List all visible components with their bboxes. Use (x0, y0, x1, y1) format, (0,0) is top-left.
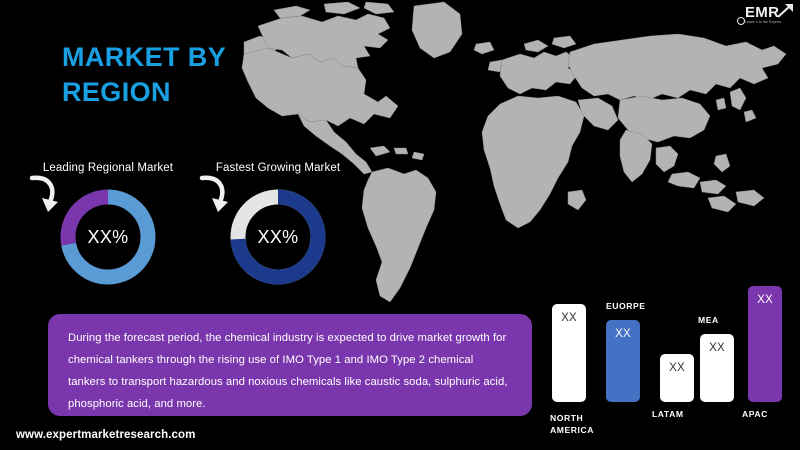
logo-name: EMR (745, 4, 779, 21)
callout-text-box: During the forecast period, the chemical… (48, 314, 532, 416)
bar-label-euorpe: EUORPE (606, 300, 666, 312)
bar-label-latam: LATAM (652, 408, 710, 420)
infographic-slide: MARKET BY REGION EMR Leave it to the Exp… (0, 0, 800, 450)
donut-caption: Fastest Growing Market (216, 162, 340, 174)
donut-caption: Leading Regional Market (43, 162, 173, 174)
growth-arrow-icon (776, 3, 794, 19)
bar-label-north-america: NORTH AMERICA (550, 412, 608, 436)
curved-arrow-icon-left (28, 172, 62, 214)
donut-value: XX% (58, 187, 158, 287)
bar-value: XX (606, 328, 640, 340)
bar-value: XX (552, 312, 586, 324)
curved-arrow-icon-right (198, 172, 232, 214)
bar-value: XX (660, 362, 694, 374)
donut-value: XX% (228, 187, 328, 287)
emr-logo: EMR Leave it to the Experts (736, 3, 794, 33)
bar-label-mea: MEA (698, 314, 748, 326)
bar-value: XX (748, 294, 782, 306)
regional-bar-chart: XX NORTH AMERICA XX EUORPE XX LATAM XX M… (548, 272, 792, 440)
bar-label-apac: APAC (742, 408, 792, 420)
logo-dot-icon (737, 17, 745, 25)
logo-tagline: Leave it to the Experts (745, 20, 781, 24)
bar-value: XX (700, 342, 734, 354)
footer-website-url: www.expertmarketresearch.com (16, 429, 195, 441)
page-title: MARKET BY REGION (62, 40, 322, 109)
